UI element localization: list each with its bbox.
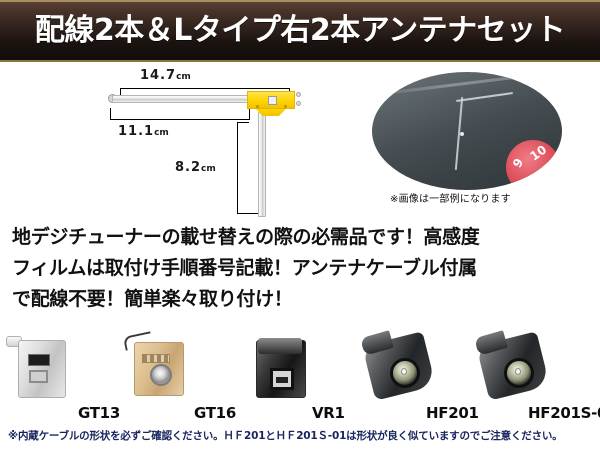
- dimension-value-width-inner: 11.1: [118, 124, 154, 139]
- footer-note: ※内蔵ケーブルの形状を必ずご確認ください。ＨＦ201とＨＦ201Ｓ-01は形状が…: [8, 428, 598, 443]
- description-line-1: 地デジチューナーの載せ替えの際の必需品です！高感度: [12, 222, 590, 253]
- antenna-diagram: 14.7cm 11.1cm 8.2cm: [0, 62, 340, 217]
- connector-gt16: GT16: [118, 332, 238, 424]
- banner-title: 配線2本＆Lタイプ右2本アンテナセット: [35, 16, 565, 46]
- connector-hf201s01: HF201S-01: [474, 332, 594, 424]
- bracket-width-inner-tick-right: [249, 108, 250, 120]
- antenna-connector-tab: [247, 91, 295, 109]
- connector-hf201-image: [360, 332, 446, 404]
- vr1-port: [270, 368, 294, 390]
- description-line-2: フィルムは取付け手順番号記載！アンテナケーブル付属: [12, 253, 590, 284]
- connector-gt16-image: [118, 332, 204, 404]
- dimension-value-width-total: 14.7: [140, 68, 176, 83]
- dimension-label-height: 8.2cm: [175, 160, 216, 175]
- antenna-tab-dot-right: [284, 105, 287, 108]
- connector-vr1-image: [240, 332, 326, 404]
- connector-gt13-image: [4, 332, 90, 404]
- connector-gt16-label: GT16: [194, 404, 236, 422]
- description-block: 地デジチューナーの載せ替えの際の必需品です！高感度 フィルムは取付け手順番号記載…: [12, 222, 590, 315]
- hf201s01-center-pin: [515, 368, 521, 375]
- antenna-vertical-element: [258, 112, 266, 217]
- dimension-label-width-inner: 11.1cm: [118, 124, 169, 139]
- dimension-value-height: 8.2: [175, 160, 201, 175]
- gt13-slot-upper: [28, 354, 50, 366]
- hf201-center-pin: [401, 368, 407, 375]
- connector-vr1-label: VR1: [312, 404, 345, 422]
- bracket-height-tick-top: [237, 122, 249, 123]
- connector-gt13: GT13: [4, 332, 124, 424]
- gt16-coax-ring: [150, 364, 172, 386]
- header-banner: 配線2本＆Lタイプ右2本アンテナセット: [0, 0, 600, 62]
- windshield-edge-line: [372, 72, 562, 98]
- antenna-tab-chip: [268, 96, 277, 105]
- antenna-side-dot-upper: [296, 92, 301, 97]
- photo-disclaimer: ※画像は一部例になります: [390, 190, 511, 205]
- sticker-digit-left: 9: [510, 156, 526, 170]
- sticker-digit-right: 10: [527, 142, 549, 163]
- gt13-slot-lower: [29, 370, 48, 383]
- windshield-photo-circle: 910: [372, 72, 562, 190]
- connector-hf201-label: HF201: [426, 404, 479, 422]
- bracket-height: [237, 122, 238, 214]
- dimension-unit-width-total: cm: [176, 72, 191, 82]
- connector-hf201: HF201: [360, 332, 480, 424]
- connector-vr1: VR1: [240, 332, 360, 424]
- windshield-inspection-sticker: 910: [506, 140, 560, 190]
- description-line-3: で配線不要！簡単楽々取り付け！: [12, 284, 590, 315]
- gt13-housing: [18, 340, 66, 398]
- product-photo: 910 ※画像は一部例になります: [372, 72, 562, 190]
- antenna-tab-dot-left: [256, 105, 259, 108]
- dimension-label-width-total: 14.7cm: [140, 68, 191, 83]
- connector-hf201s01-image: [474, 332, 560, 404]
- gt16-ribs: [142, 354, 170, 363]
- antenna-horizontal-element: [112, 95, 256, 103]
- connector-type-row: GT13 GT16 VR1 HF201: [0, 332, 600, 424]
- installed-antenna-node: [460, 132, 464, 136]
- bracket-width-inner-tick-left: [110, 108, 111, 120]
- antenna-side-dot-lower: [296, 101, 301, 106]
- connector-hf201s01-label: HF201S-01: [528, 404, 600, 422]
- installed-antenna-horizontal: [456, 92, 513, 102]
- bracket-width-inner: [110, 119, 250, 120]
- vr1-latch-lever: [258, 338, 302, 354]
- dimension-unit-height: cm: [201, 164, 216, 174]
- dimension-unit-width-inner: cm: [154, 128, 169, 138]
- bracket-width-total: [120, 88, 290, 89]
- connector-gt13-label: GT13: [78, 404, 120, 422]
